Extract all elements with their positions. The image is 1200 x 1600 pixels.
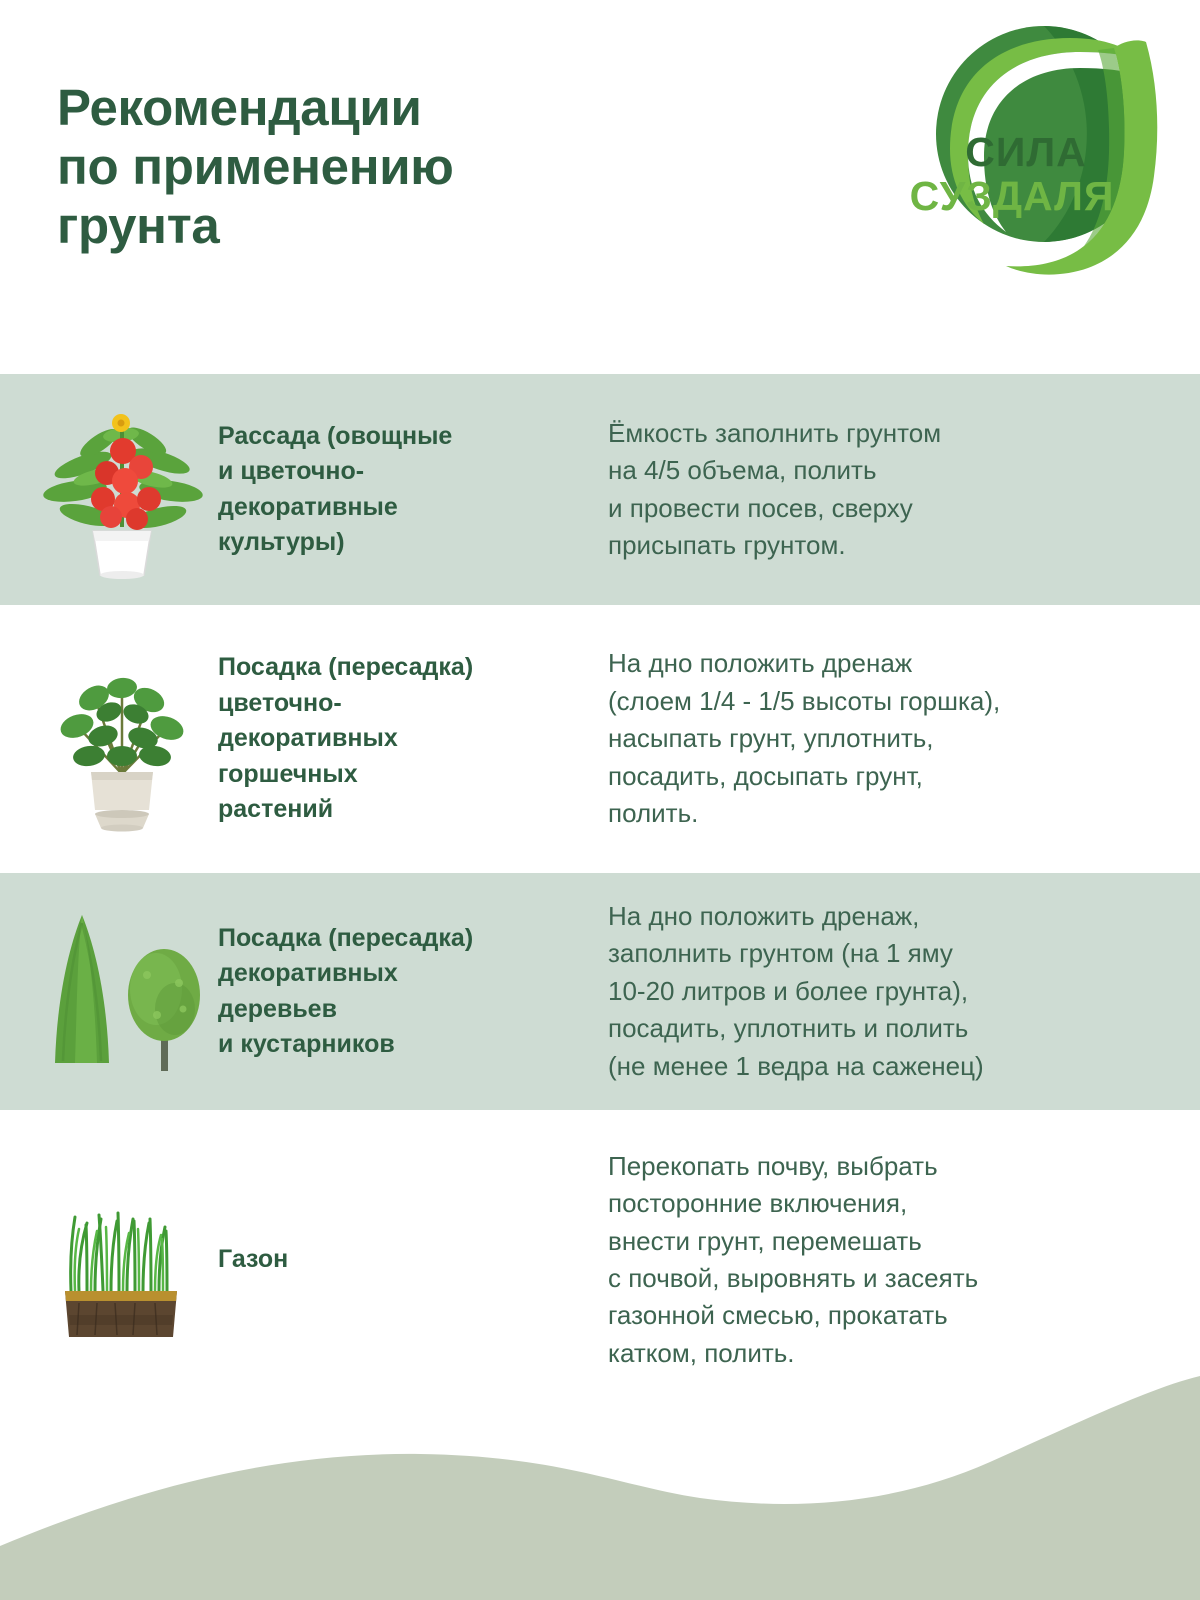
wave-shape [0,1370,1200,1600]
row-title: Рассада (овощные и цветочно- декоративны… [210,419,600,561]
conifer-tree-shape [55,915,109,1063]
flower-icon [112,414,130,432]
row-description: Перекопать почву, выбрать посторонние вк… [600,1148,1200,1373]
ornamental-trees-image [37,897,207,1087]
brand-logo: СИЛА СУЗДАЛЯ [910,14,1178,282]
table-row: Рассада (овощные и цветочно- декоративны… [0,374,1200,605]
logo-text-line1: СИЛА [965,129,1086,175]
row-description: На дно положить дренаж, заполнить грунто… [600,898,1200,1085]
leaf-circle-logo-icon: СИЛА СУЗДАЛЯ [910,14,1178,282]
row-title: Посадка (пересадка) цветочно- декоративн… [210,650,600,828]
infographic-page: Рекомендации по применению грунта СИЛА С… [0,0,1200,1600]
logo-text-line2: СУЗДАЛЯ [910,173,1114,219]
topiary-tree-shape [128,949,200,1071]
row-title: Газон [210,1242,600,1278]
tomato-seedling-in-pot-image [37,395,207,585]
table-row: Посадка (пересадка) цветочно- декоративн… [0,605,1200,873]
row-title: Посадка (пересадка) декоративных деревье… [210,921,600,1063]
row-image-cell [0,374,210,605]
bottom-wave-decoration [0,1370,1200,1600]
row-image-cell [0,873,210,1110]
row-image-cell [0,605,210,873]
grass-sod-image [37,1165,207,1355]
row-description: На дно положить дренаж (слоем 1/4 - 1/5 … [600,645,1200,832]
row-image-cell [0,1110,210,1410]
potted-houseplant-image [37,644,207,834]
row-description: Ёмкость заполнить грунтом на 4/5 объема,… [600,415,1200,565]
table-row: Газон Перекопать почву, выбрать посторон… [0,1110,1200,1410]
header: Рекомендации по применению грунта СИЛА С… [0,0,1200,374]
table-row: Посадка (пересадка) декоративных деревье… [0,873,1200,1110]
recommendation-rows: Рассада (овощные и цветочно- декоративны… [0,374,1200,1410]
page-title: Рекомендации по применению грунта [57,78,657,255]
